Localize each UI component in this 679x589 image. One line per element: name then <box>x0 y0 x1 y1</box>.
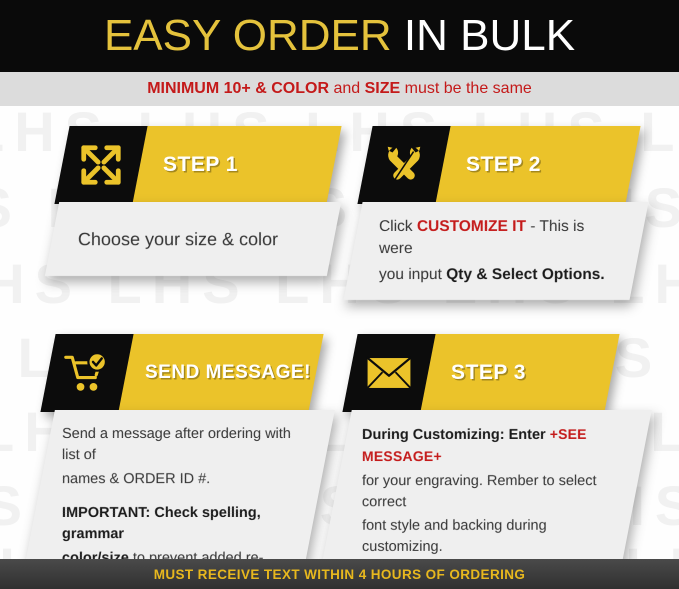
footer-text: MUST RECEIVE TEXT WITHIN 4 HOURS OF ORDE… <box>154 567 526 582</box>
card-step-3-line-3: font style and backing during customizin… <box>362 516 616 558</box>
subheader-part-3: SIZE <box>365 80 401 97</box>
card-step-2-body: Click CUSTOMIZE IT - This is were you in… <box>343 202 648 300</box>
card-step-3-label: STEP 3 <box>427 361 526 385</box>
card-step-2-label-bg: STEP 2 <box>434 126 640 204</box>
subheader-part-1: MINIMUM 10+ & COLOR <box>147 80 329 97</box>
card-step-2-text-line-1: Click CUSTOMIZE IT - This is were <box>379 216 619 261</box>
card-step-2-text-d: you input <box>379 266 446 283</box>
page-title: EASY ORDER IN BULK <box>104 11 575 61</box>
card-step-3-body: During Customizing: Enter +SEE MESSAGE+ … <box>320 410 652 572</box>
card-send-message-label: SEND MESSAGE! <box>125 362 311 384</box>
expand-arrows-icon <box>54 126 147 204</box>
card-step-1-header: STEP 1 <box>62 126 334 204</box>
card-send-message-important: IMPORTANT: <box>62 505 150 521</box>
shopping-cart-check-icon <box>40 334 133 412</box>
subheader-text: MINIMUM 10+ & COLOR and SIZE must be the… <box>147 80 532 98</box>
card-step-1-label: STEP 1 <box>139 153 238 177</box>
card-step-1-label-bg: STEP 1 <box>131 126 341 204</box>
card-step-1-body: Choose your size & color <box>45 202 341 276</box>
card-send-message-header: SEND MESSAGE! <box>48 334 316 412</box>
footer-banner: MUST RECEIVE TEXT WITHIN 4 HOURS OF ORDE… <box>0 559 679 589</box>
subheader-part-4: must be the same <box>405 80 532 97</box>
card-step-2-text-a: Click <box>379 218 417 235</box>
card-send-message: SEND MESSAGE! Send a message after order… <box>48 334 316 589</box>
card-step-3-line-1: During Customizing: Enter +SEE MESSAGE+ <box>362 424 616 468</box>
card-step-2-text-e: Qty & Select Options. <box>446 266 604 283</box>
envelope-icon <box>342 334 435 412</box>
card-step-2-label: STEP 2 <box>442 153 541 177</box>
card-step-3-header: STEP 3 <box>350 334 612 412</box>
card-step-2-header: STEP 2 <box>365 126 633 204</box>
card-step-3-label-bg: STEP 3 <box>419 334 619 412</box>
infographic-page: LHS LHS LHS LHS LHS LHS LHS LHS LHS LHS … <box>0 0 679 589</box>
card-send-message-label-bg: SEND MESSAGE! <box>117 334 323 412</box>
card-step-3-line-2: for your engraving. Rember to select cor… <box>362 471 616 513</box>
card-send-message-line-2: names & ORDER ID #. <box>62 469 296 490</box>
header-banner: EASY ORDER IN BULK <box>0 0 679 72</box>
subheader-part-2: and <box>333 80 360 97</box>
card-step-3: STEP 3 During Customizing: Enter +SEE ME… <box>350 334 612 572</box>
card-send-message-line-1: Send a message after ordering with list … <box>62 424 296 466</box>
card-step-2-text-line-2: you input Qty & Select Options. <box>379 264 619 286</box>
card-step-2-text-customize: CUSTOMIZE IT <box>417 218 526 235</box>
card-send-message-line-3: IMPORTANT: Check spelling, grammar <box>62 503 296 545</box>
card-step-1-text: Choose your size & color <box>78 216 314 262</box>
card-step-3-text-a: During Customizing: Enter <box>362 427 550 443</box>
page-title-gold: EASY ORDER <box>104 11 392 60</box>
page-title-white: IN BULK <box>404 11 575 60</box>
card-step-1: STEP 1 Choose your size & color <box>62 126 334 276</box>
wrench-pencil-icon <box>357 126 450 204</box>
subheader-banner: MINIMUM 10+ & COLOR and SIZE must be the… <box>0 72 679 106</box>
card-step-2: STEP 2 Click CUSTOMIZE IT - This is were… <box>365 126 633 300</box>
